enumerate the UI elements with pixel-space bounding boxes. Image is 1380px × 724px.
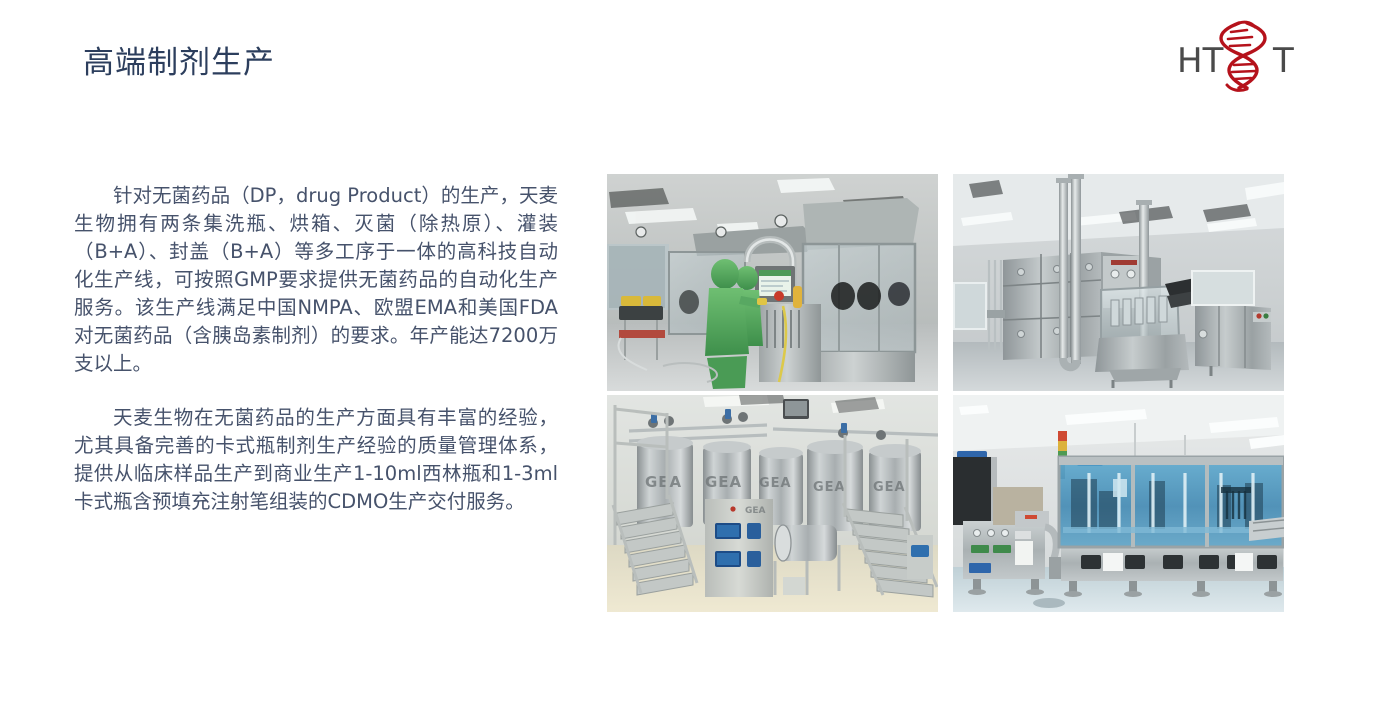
svg-text:GEA: GEA [813,480,846,495]
page-title: 高端制剂生产 [83,44,275,83]
logo-letter-right: T [1272,41,1294,81]
svg-text:GEA: GEA [705,473,742,491]
photo-grid: GEA GEA GEA GEA GEA GEA [607,174,1288,624]
logo-letters-left: HT [1177,41,1224,81]
photo-gea-formulation-tanks: GEA GEA GEA GEA GEA GEA [607,395,938,612]
htbt-logo: HT T [1177,20,1302,92]
slide-canvas: 高端制剂生产 HT T [0,0,1380,724]
photo-aseptic-filling-line [607,174,938,391]
paragraph-2: 天麦生物在无菌药品的生产方面具有丰富的经验，尤其具备完善的卡式瓶制剂生产经验的质… [74,404,558,516]
svg-text:GEA: GEA [745,506,766,516]
svg-text:GEA: GEA [645,473,682,491]
paragraph-1: 针对无菌药品（DP，drug Product）的生产，天麦生物拥有两条集洗瓶、烘… [74,182,558,378]
body-copy: 针对无菌药品（DP，drug Product）的生产，天麦生物拥有两条集洗瓶、烘… [74,182,558,516]
photo-cartridge-filling-machine [953,395,1284,612]
svg-text:GEA: GEA [759,476,792,491]
svg-text:GEA: GEA [873,480,906,495]
photo-washing-sterilizing-tunnel [953,174,1284,391]
